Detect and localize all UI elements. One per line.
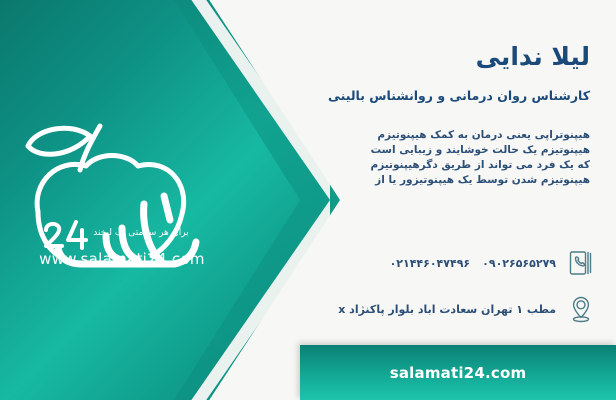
card-details: لیلا ندایی کارشناس روان درمانی و روانشنا…: [318, 0, 604, 400]
phone-office[interactable]: ۰۲۱۴۴۶۰۴۷۴۹۶: [390, 257, 471, 270]
address-row: مطب ۱ تهران سعادت اباد بلوار پاکنژاد x: [338, 294, 596, 324]
phone-book-icon: [566, 248, 596, 278]
logo-website[interactable]: www.salamati24.com: [22, 250, 222, 268]
logo-apple-outline: [37, 156, 184, 257]
logo-leaf: [28, 128, 90, 154]
footer-website[interactable]: salamati24.com: [390, 364, 527, 382]
person-name: لیلا ندایی: [476, 42, 590, 71]
description-line: هیپنوتیزم یک حالت خوشایند و زیبایی است: [340, 143, 590, 158]
footer-bar: salamati24.com: [300, 345, 616, 400]
description-block: هیپنوتراپی یعنی درمان به کمک هیپنوتیزم ه…: [340, 128, 590, 188]
description-line: هیپنوتیزم شدن توسط یک هیپنوتیزور یا از: [340, 173, 590, 188]
phone-mobile[interactable]: ۰۹۰۲۶۵۶۵۲۷۹: [482, 257, 556, 270]
description-line: که یک فرد می تواند از طریق دگرهیپنوتیزم: [340, 158, 590, 173]
map-pin-icon: [566, 294, 596, 324]
address-text: مطب ۱ تهران سعادت اباد بلوار پاکنژاد x: [338, 303, 556, 316]
person-role: کارشناس روان درمانی و روانشناس بالینی: [328, 88, 590, 103]
brand-logo: [14, 108, 246, 273]
phone-numbers: ۰۲۱۴۴۶۰۴۷۴۹۶ ۰۹۰۲۶۵۶۵۲۷۹: [390, 257, 556, 270]
logo-tagline: برای هر سلامتی یک لبخند: [60, 228, 222, 238]
business-card: برای هر سلامتی یک لبخند www.salamati24.c…: [0, 0, 616, 400]
phone-row: ۰۲۱۴۴۶۰۴۷۴۹۶ ۰۹۰۲۶۵۶۵۲۷۹: [390, 248, 596, 278]
description-line: هیپنوتراپی یعنی درمان به کمک هیپنوتیزم: [340, 128, 590, 143]
